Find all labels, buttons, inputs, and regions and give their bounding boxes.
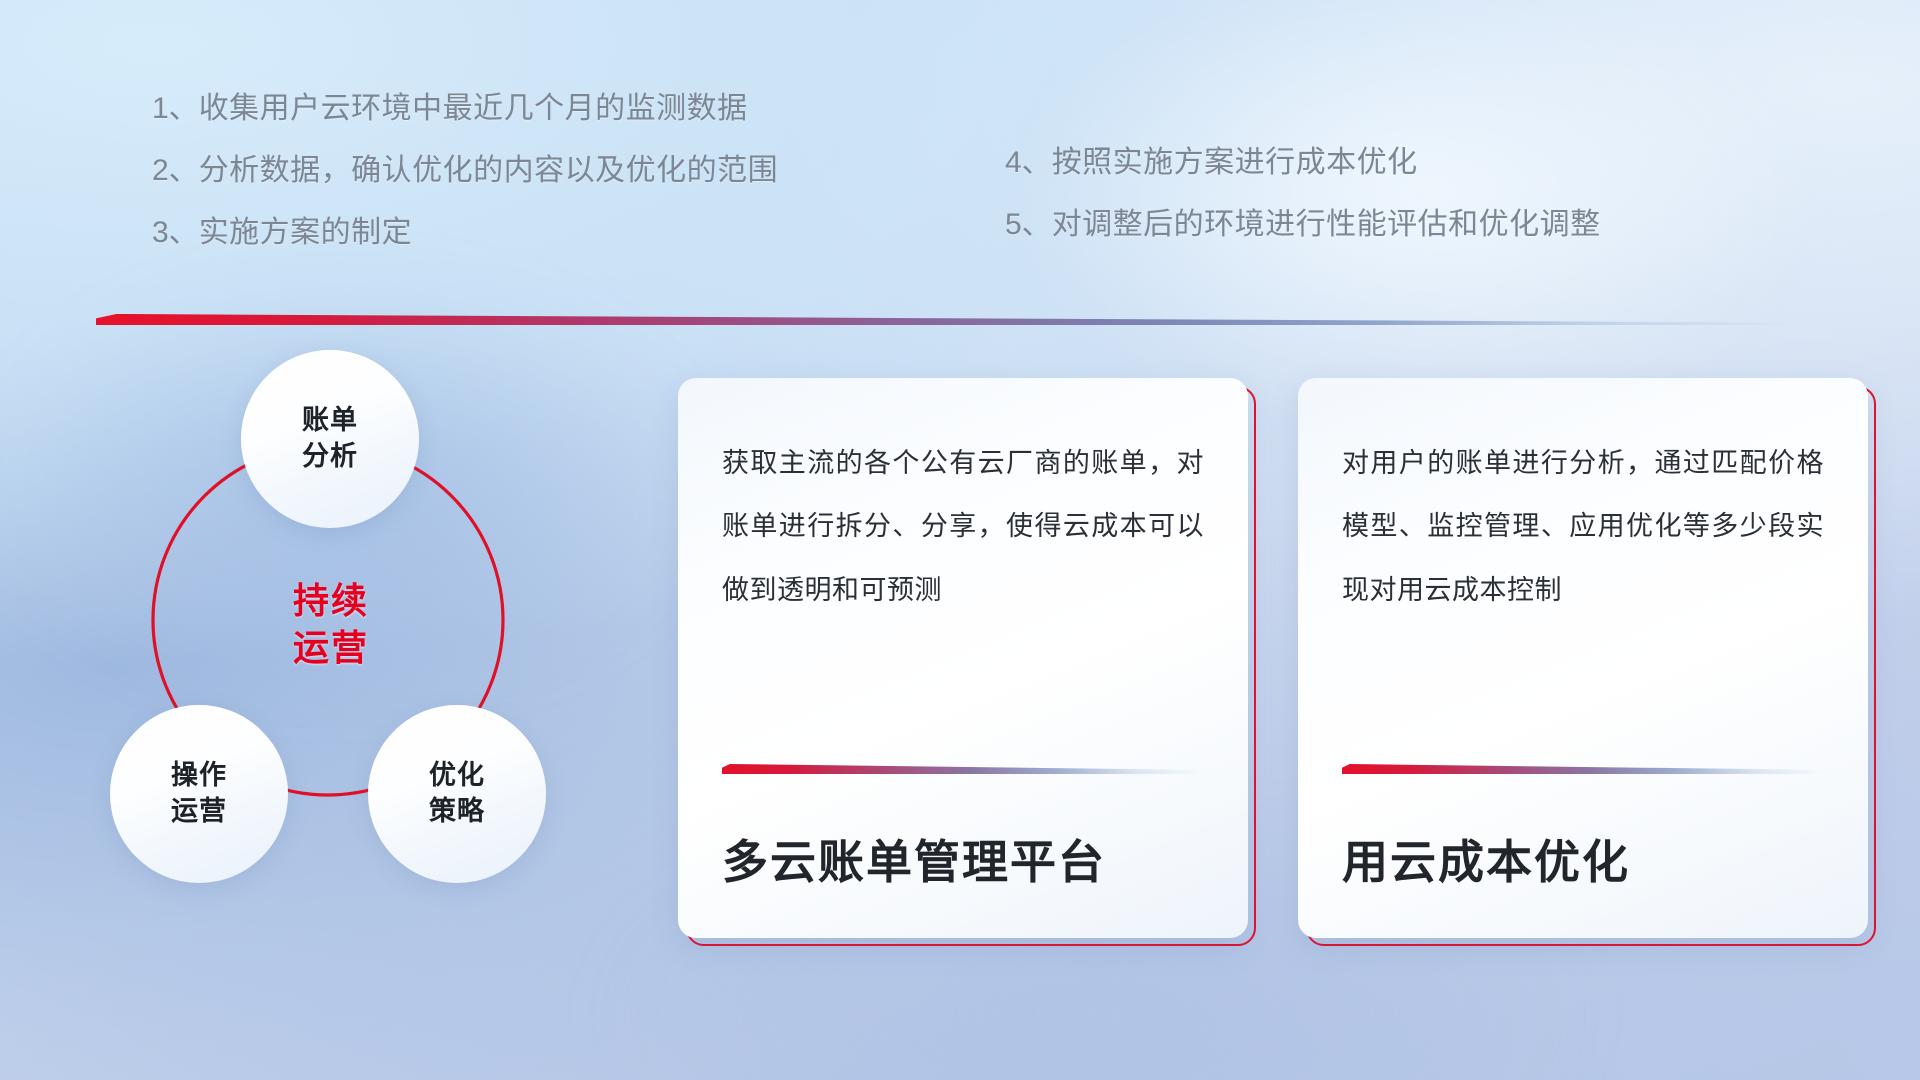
bubble-label: 账单分析 [302, 403, 358, 474]
list-item: 3、实施方案的制定 [152, 218, 778, 248]
list-item-label: 实施方案的制定 [199, 216, 413, 249]
card-description: 对用户的账单进行分析，通过匹配价格模型、监控管理、应用优化等多少段实现对用云成本… [1342, 432, 1824, 622]
list-item-label: 按照实施方案进行成本优化 [1052, 146, 1418, 179]
list-item-number: 5、 [1005, 208, 1052, 241]
list-item-label: 分析数据，确认优化的内容以及优化的范围 [199, 154, 779, 187]
card-divider [1342, 764, 1824, 774]
list-item: 2、分析数据，确认优化的内容以及优化的范围 [152, 156, 778, 186]
feature-card-cloud-cost-optimization[interactable]: 对用户的账单进行分析，通过匹配价格模型、监控管理、应用优化等多少段实现对用云成本… [1306, 386, 1876, 946]
list-item: 5、对调整后的环境进行性能评估和优化调整 [1005, 210, 1601, 240]
list-item: 1、收集用户云环境中最近几个月的监测数据 [152, 94, 778, 124]
diagram-bubble-bill-analysis[interactable]: 账单分析 [241, 350, 419, 528]
diagram-bubble-optimization-strategy[interactable]: 优化策略 [368, 705, 546, 883]
card-surface: 对用户的账单进行分析，通过匹配价格模型、监控管理、应用优化等多少段实现对用云成本… [1298, 378, 1868, 938]
list-item: 4、按照实施方案进行成本优化 [1005, 148, 1601, 178]
bubble-label: 优化策略 [429, 758, 485, 829]
center-label-line1: 持续 [246, 578, 416, 625]
list-item-label: 收集用户云环境中最近几个月的监测数据 [199, 92, 748, 125]
diagram-bubble-operation[interactable]: 操作运营 [110, 705, 288, 883]
card-divider [722, 764, 1204, 774]
divider-gradient-bar [96, 314, 1796, 325]
list-item-number: 4、 [1005, 146, 1052, 179]
list-item-label: 对调整后的环境进行性能评估和优化调整 [1052, 208, 1601, 241]
card-description: 获取主流的各个公有云厂商的账单，对账单进行拆分、分享，使得云成本可以做到透明和可… [722, 432, 1204, 622]
section-divider [96, 314, 1796, 325]
slide-canvas: 1、收集用户云环境中最近几个月的监测数据 2、分析数据，确认优化的内容以及优化的… [0, 0, 1920, 1080]
list-item-number: 2、 [152, 154, 199, 187]
list-item-number: 3、 [152, 216, 199, 249]
card-title: 用云成本优化 [1342, 826, 1824, 892]
feature-card-multicloud-bill-platform[interactable]: 获取主流的各个公有云厂商的账单，对账单进行拆分、分享，使得云成本可以做到透明和可… [686, 386, 1256, 946]
continuous-operation-diagram: 账单分析 操作运营 优化策略 持续 运营 [96, 350, 656, 950]
bubble-label: 操作运营 [171, 758, 227, 829]
steps-list-left: 1、收集用户云环境中最近几个月的监测数据 2、分析数据，确认优化的内容以及优化的… [152, 94, 778, 280]
card-title: 多云账单管理平台 [722, 826, 1204, 892]
card-surface: 获取主流的各个公有云厂商的账单，对账单进行拆分、分享，使得云成本可以做到透明和可… [678, 378, 1248, 938]
list-item-number: 1、 [152, 92, 199, 125]
steps-list-right: 4、按照实施方案进行成本优化 5、对调整后的环境进行性能评估和优化调整 [1005, 148, 1601, 272]
center-label-line2: 运营 [246, 625, 416, 672]
diagram-center-label: 持续 运营 [246, 578, 416, 672]
